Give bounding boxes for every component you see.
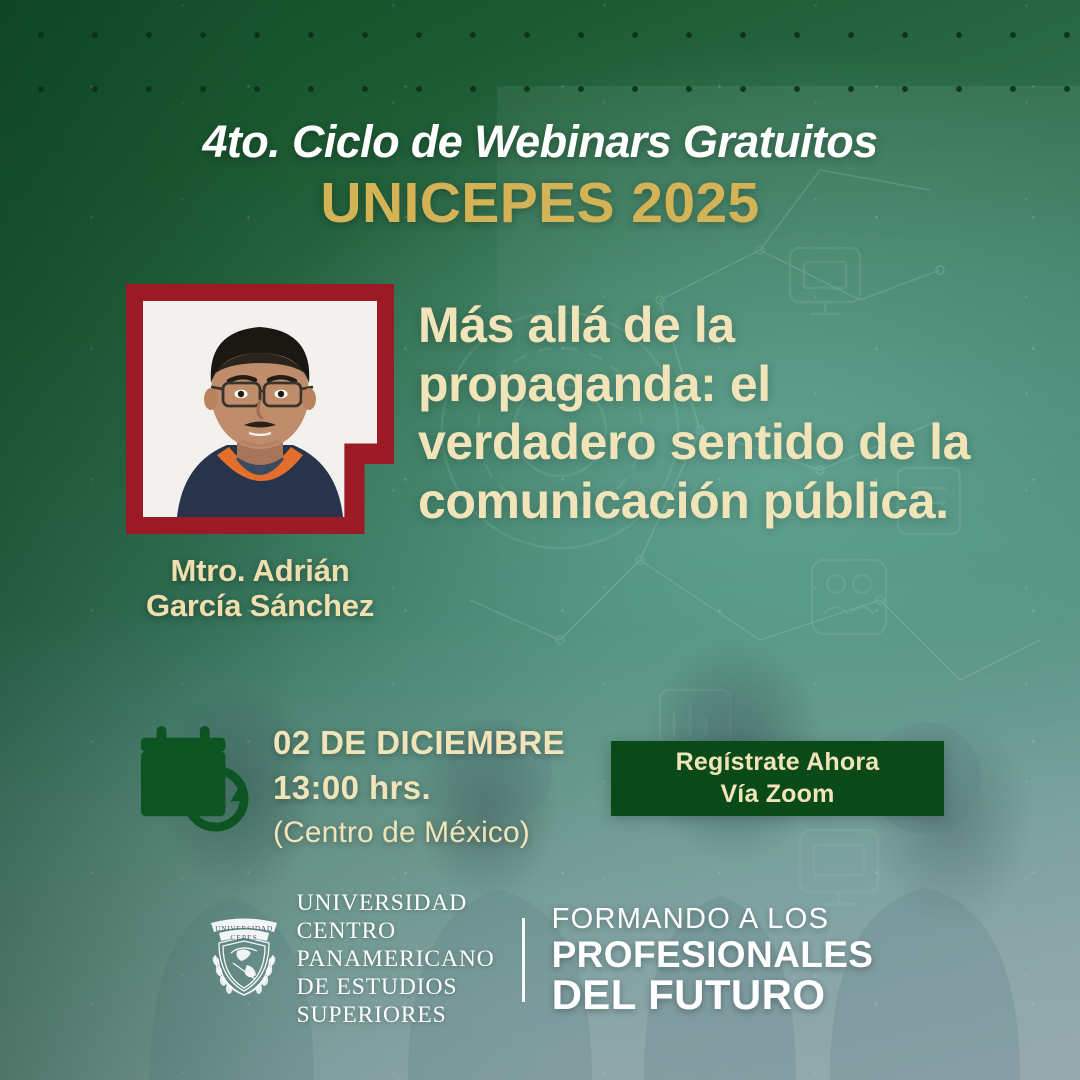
- speaker-portrait-image: [143, 301, 377, 517]
- university-name-line-3: DE ESTUDIOS: [297, 974, 495, 1002]
- speaker-name-line1: Mtro. Adrián: [126, 553, 394, 588]
- svg-text:CEPES: CEPES: [230, 933, 258, 942]
- university-name-line-2: PANAMERICANO: [297, 946, 495, 974]
- register-button-line2: Vía Zoom: [720, 779, 834, 811]
- speaker-photo: [143, 301, 377, 517]
- tagline-line1: FORMANDO A LOS: [552, 905, 874, 934]
- speaker-block: Mtro. Adrián García Sánchez: [126, 284, 394, 624]
- tagline-line3: DEL FUTURO: [552, 974, 874, 1016]
- schedule-text: 02 DE DICIEMBRE 13:00 hrs. (Centro de Mé…: [273, 718, 565, 852]
- speaker-name: Mtro. Adrián García Sánchez: [126, 553, 394, 624]
- speaker-photo-frame: [126, 284, 394, 534]
- footer-divider: [522, 918, 525, 1002]
- event-timezone: (Centro de México): [273, 813, 565, 852]
- event-time: 13:00 hrs.: [273, 767, 565, 810]
- register-button-line1: Regístrate Ahora: [676, 747, 880, 779]
- talk-title: Más allá de la propaganda: el verdadero …: [418, 296, 974, 530]
- university-name-line-1: CENTRO: [297, 918, 495, 946]
- university-crest-icon: UNIVERSIDAD CEPES: [207, 911, 281, 1009]
- register-button[interactable]: Regístrate Ahora Vía Zoom: [611, 741, 944, 816]
- tagline-line2: PROFESIONALES: [552, 936, 874, 973]
- footer-tagline: FORMANDO A LOS PROFESIONALES DEL FUTURO: [552, 905, 874, 1016]
- schedule-block: 02 DE DICIEMBRE 13:00 hrs. (Centro de Mé…: [133, 718, 565, 852]
- university-name: UNIVERSIDAD CENTRO PANAMERICANO DE ESTUD…: [297, 890, 495, 1030]
- university-name-line-4: SUPERIORES: [297, 1002, 495, 1030]
- header-kicker: 4to. Ciclo de Webinars Gratuitos: [0, 118, 1080, 165]
- footer: UNIVERSIDAD CEPES UNIVERSIDAD CENTRO PAN…: [0, 890, 1080, 1030]
- event-date: 02 DE DICIEMBRE: [273, 722, 565, 763]
- speaker-name-line2: García Sánchez: [126, 588, 394, 623]
- calendar-clock-icon: [133, 724, 251, 832]
- poster-header: 4to. Ciclo de Webinars Gratuitos UNICEPE…: [0, 118, 1080, 234]
- university-name-line-0: UNIVERSIDAD: [297, 890, 495, 918]
- header-brand-year: UNICEPES 2025: [0, 174, 1080, 234]
- webinar-poster: 4to. Ciclo de Webinars Gratuitos UNICEPE…: [0, 0, 1080, 1080]
- background-dot-pattern: [0, 0, 1080, 120]
